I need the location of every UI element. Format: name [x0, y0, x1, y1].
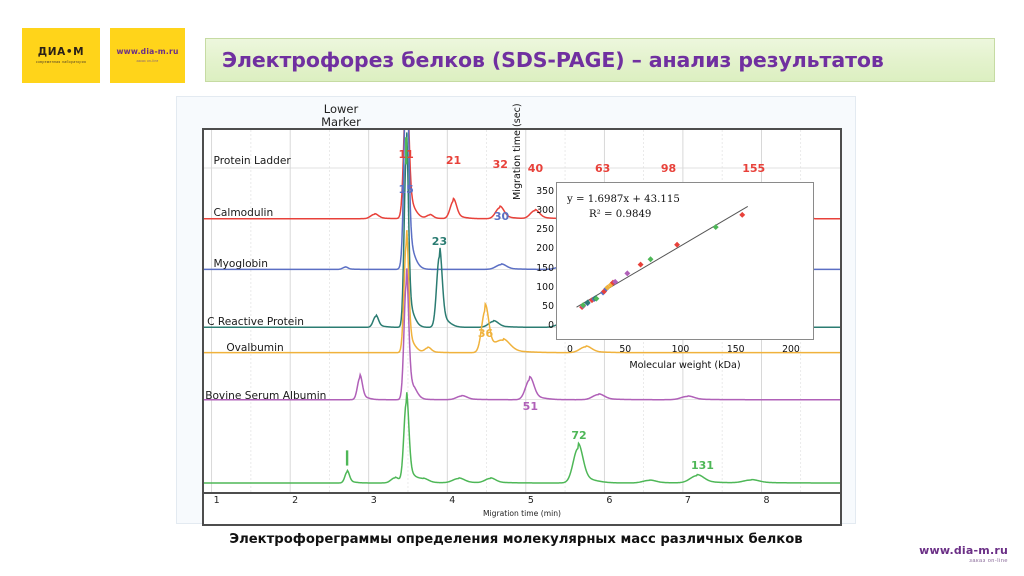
dia-m-url-logo-text: www.dia-m.ru	[116, 48, 178, 56]
x-tick-3: 3	[371, 495, 377, 506]
inset-x-tick-100: 100	[666, 344, 694, 355]
peak-label-bsa-131: 131	[691, 459, 714, 472]
lower-marker-line1: Lower	[296, 103, 386, 116]
lower-marker-line2: Marker	[296, 116, 386, 129]
dia-m-url-logo-subtext: заказ on-line	[136, 59, 158, 63]
peak-label-ladder-40: 40	[528, 162, 543, 175]
x-tick-8: 8	[763, 495, 769, 506]
peak-label-ovalbumin-51: 51	[523, 400, 538, 413]
trace-label-calmodulin: Calmodulin	[214, 207, 274, 219]
x-tick-4: 4	[449, 495, 455, 506]
scatter-point-20	[713, 224, 719, 230]
regression-annotation: y = 1.6987x + 43.115 R² = 0.9849	[567, 193, 680, 223]
calibration-inset-chart: y = 1.6987x + 43.115 R² = 0.9849	[556, 182, 814, 340]
page-title: Электрофорез белков (SDS-PAGE) – анализ …	[206, 48, 884, 72]
inset-y-tick-200: 200	[536, 243, 554, 254]
peak-label-ladder-21: 21	[446, 154, 461, 167]
scatter-points	[579, 212, 745, 310]
inset-x-tick-labels: 050100150200	[520, 344, 850, 360]
inset-y-tick-labels: 050100150200250300350	[516, 182, 554, 342]
x-tick-5: 5	[528, 495, 534, 506]
scatter-point-17	[638, 262, 644, 268]
x-tick-6: 6	[606, 495, 612, 506]
inset-y-tick-350: 350	[536, 186, 554, 197]
diam-logo: ДИА•М современная лаборатория	[22, 28, 100, 83]
x-tick-7: 7	[685, 495, 691, 506]
inset-x-tick-50: 50	[611, 344, 639, 355]
peak-label-ladder-98: 98	[661, 162, 676, 175]
trace-label-ovalbumin: Ovalbumin	[226, 342, 283, 354]
inset-x-tick-150: 150	[722, 344, 750, 355]
peak-label-calmodulin-30: 30	[494, 210, 509, 223]
scatter-point-21	[739, 212, 745, 218]
trace-label-protein-ladder: Protein Ladder	[214, 155, 291, 167]
inset-y-tick-150: 150	[536, 263, 554, 274]
scatter-point-16	[624, 270, 630, 276]
peak-label-ladder-32: 32	[493, 158, 508, 171]
inset-y-tick-0: 0	[548, 320, 554, 331]
trace-label-bovine-serum-albumin: Bovine Serum Albumin	[205, 390, 326, 402]
peak-label-ladder-11: 11	[399, 148, 414, 161]
footer-logo-subtext: заказ on-line	[919, 558, 1008, 564]
inset-y-tick-100: 100	[536, 282, 554, 293]
inset-y-tick-50: 50	[542, 301, 554, 312]
x-tick-2: 2	[292, 495, 298, 506]
peak-label-myoglobin-23: 23	[432, 235, 447, 248]
inset-y-axis-title: Migration time (sec)	[512, 103, 523, 200]
peak-label-calmodulin-15: 15	[399, 183, 414, 196]
inset-x-tick-200: 200	[777, 344, 805, 355]
inset-x-axis-title: Molecular weight (kDa)	[556, 360, 814, 371]
x-axis-strip: 12345678 Migration time (min)	[202, 494, 842, 526]
diam-logo-subtext: современная лаборатория	[36, 60, 86, 64]
scatter-point-18	[648, 256, 654, 262]
x-axis-title: Migration time (min)	[204, 509, 840, 518]
dia-m-url-logo: www.dia-m.ru заказ on-line	[110, 28, 185, 83]
peak-label-crp-36: 36	[478, 327, 493, 340]
r-squared-value: R² = 0.9849	[567, 208, 680, 223]
peak-label-ladder-63: 63	[595, 162, 610, 175]
inset-y-tick-250: 250	[536, 224, 554, 235]
lower-marker-annotation: Lower Marker	[296, 103, 386, 129]
figure-caption: Электрофореграммы определения молекулярн…	[176, 532, 856, 547]
peak-label-bsa-72: 72	[571, 429, 586, 442]
inset-x-tick-0: 0	[556, 344, 584, 355]
diam-logo-text: ДИА•М	[38, 47, 84, 58]
peak-label-ladder-155: 155	[742, 162, 765, 175]
x-tick-1: 1	[214, 495, 220, 506]
trace-label-myoglobin: Myoglobin	[214, 258, 268, 270]
inset-y-tick-300: 300	[536, 205, 554, 216]
trace-label-c-reactive-protein: C Reactive Protein	[207, 316, 304, 328]
slide-title-bar: Электрофорез белков (SDS-PAGE) – анализ …	[205, 38, 995, 82]
footer-logo-text: www.dia-m.ru	[919, 545, 1008, 557]
footer-logo: www.dia-m.ru заказ on-line	[919, 545, 1008, 564]
regression-equation: y = 1.6987x + 43.115	[567, 194, 680, 205]
